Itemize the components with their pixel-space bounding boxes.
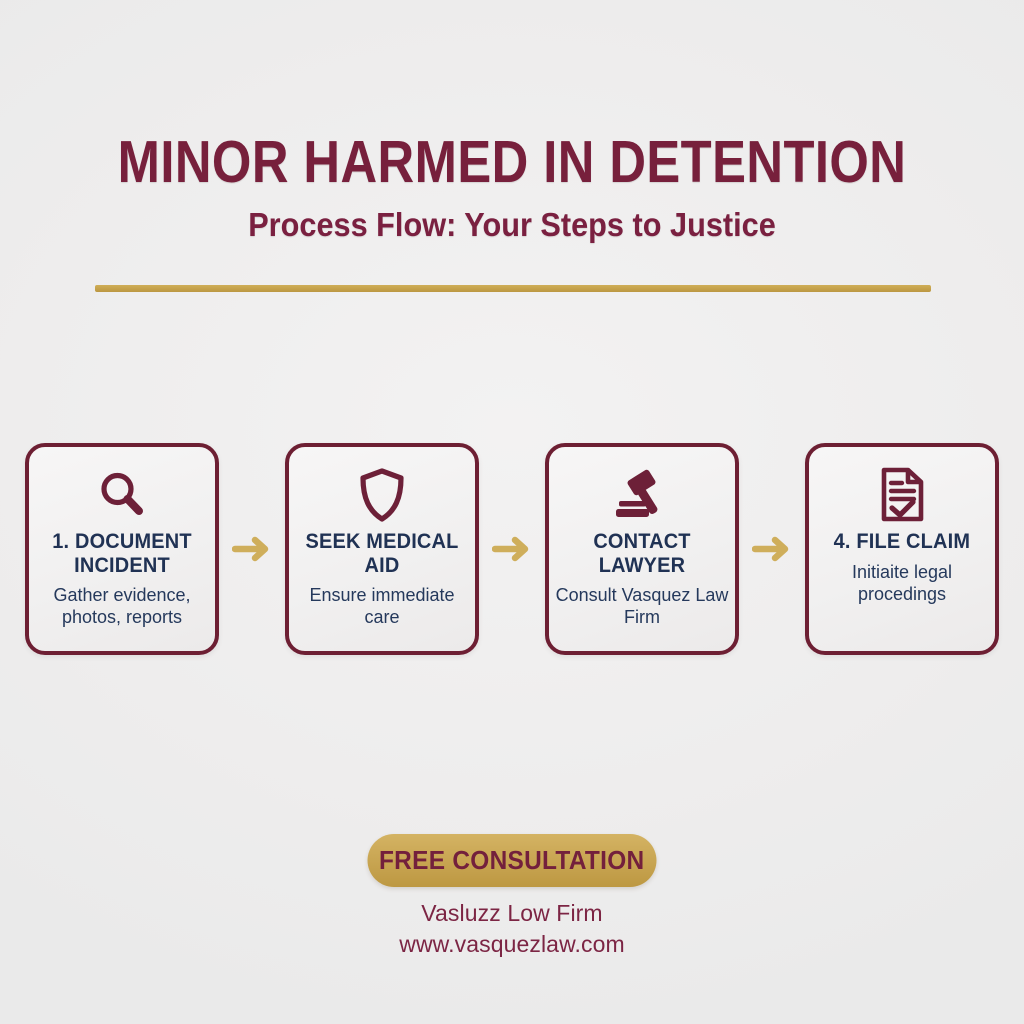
free-consultation-label: FREE CONSULTATION <box>379 845 644 876</box>
flow-step-card-3[interactable]: CONTACT LAWYER Consult Vasquez Law Firm <box>545 443 739 655</box>
firm-name: Vasluzz Low Firm <box>0 898 1024 929</box>
website-url[interactable]: www.vasquezlaw.com <box>0 929 1024 960</box>
header: MINOR HARMED IN DETENTION Process Flow: … <box>0 132 1024 244</box>
flow-step-title: SEEK MEDICAL AID <box>298 530 465 577</box>
flow-step-card-2[interactable]: SEEK MEDICAL AID Ensure immediate care <box>285 443 479 655</box>
process-flow-row: 1. DOCUMENT INCIDENT Gather evidence, ph… <box>25 443 999 655</box>
shield-icon <box>355 464 409 526</box>
flow-step-card-1[interactable]: 1. DOCUMENT INCIDENT Gather evidence, ph… <box>25 443 219 655</box>
gold-divider-rule <box>95 285 931 292</box>
flow-step-title: 4. FILE CLAIM <box>834 530 971 554</box>
magnifier-icon <box>95 464 149 526</box>
infographic-poster: MINOR HARMED IN DETENTION Process Flow: … <box>0 0 1024 1024</box>
flow-step-description: Gather evidence, photos, reports <box>33 584 211 629</box>
footer: Vasluzz Low Firm www.vasquezlaw.com <box>0 898 1024 961</box>
gavel-icon <box>613 464 671 526</box>
flow-step-description: Ensure immediate care <box>293 584 471 629</box>
page-title: MINOR HARMED IN DETENTION <box>72 132 953 192</box>
arrow-right-icon-2 <box>489 527 535 571</box>
flow-step-description: Consult Vasquez Law Firm <box>553 584 731 629</box>
free-consultation-button[interactable]: FREE CONSULTATION <box>368 834 657 887</box>
flow-step-description: Initiaite legal procedings <box>813 561 991 606</box>
arrow-right-icon-3 <box>749 527 795 571</box>
flow-step-title: CONTACT LAWYER <box>558 530 725 577</box>
page-subtitle: Process Flow: Your Steps to Justice <box>36 206 988 244</box>
arrow-right-icon-1 <box>229 527 275 571</box>
document-check-icon <box>877 464 927 526</box>
flow-step-card-4[interactable]: 4. FILE CLAIM Initiaite legal procedings <box>805 443 999 655</box>
flow-step-title: 1. DOCUMENT INCIDENT <box>38 530 205 577</box>
